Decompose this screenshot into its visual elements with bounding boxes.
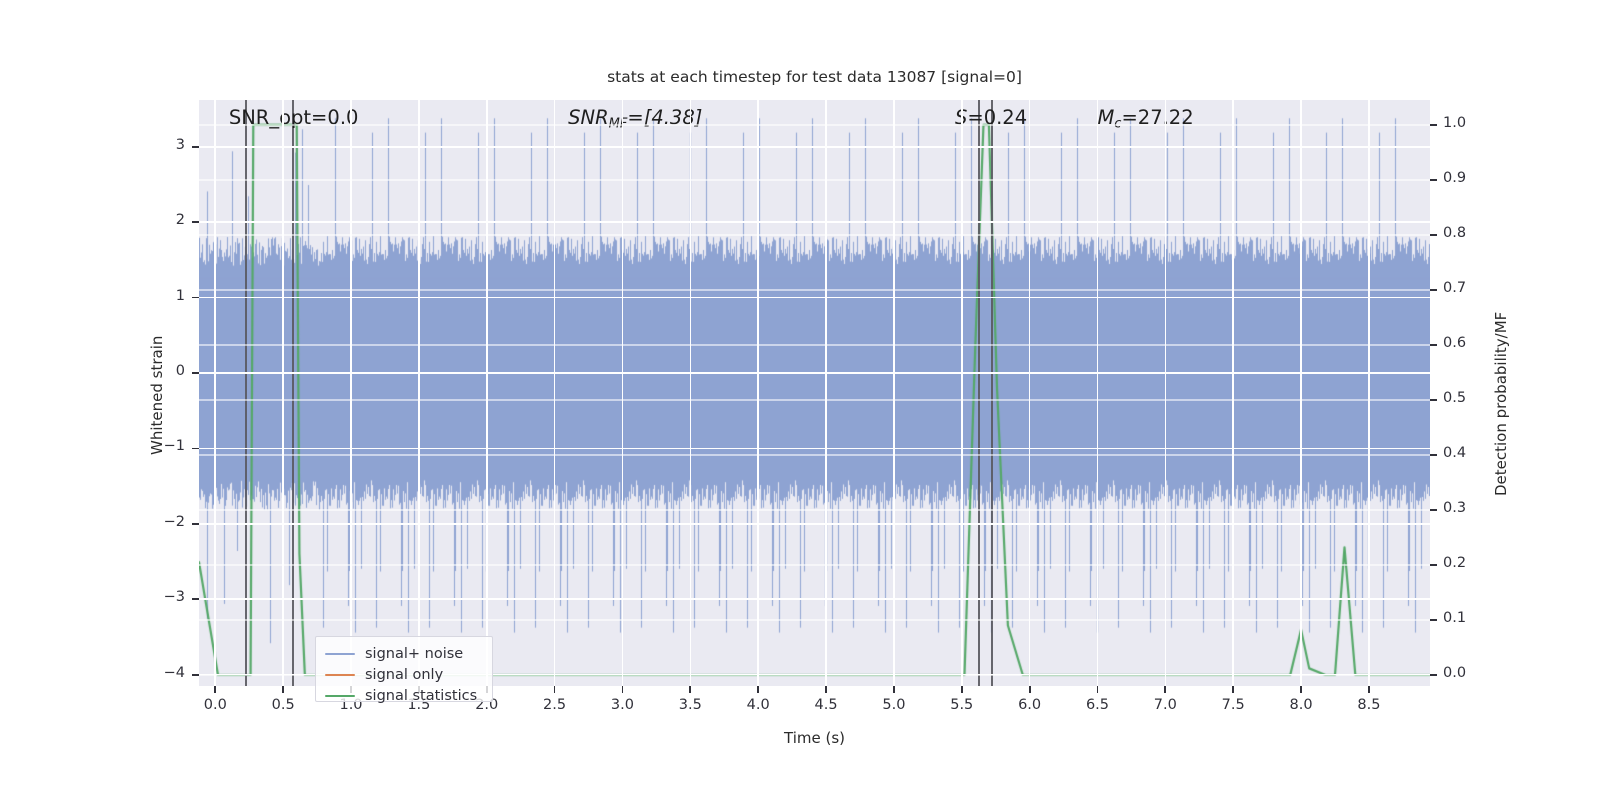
y-tick-mark-left [192, 448, 199, 450]
y-tick-label-right: 0.1 [1443, 610, 1487, 626]
gridline-horizontal-right [199, 399, 1430, 401]
gridline-vertical [1029, 100, 1031, 686]
legend-color-swatch [325, 695, 355, 697]
x-tick-mark [214, 686, 216, 693]
y-tick-label-right: 0.9 [1443, 170, 1487, 186]
y-tick-label-left: −4 [143, 665, 185, 681]
x-tick-mark [825, 686, 827, 693]
x-tick-label: 8.0 [1271, 697, 1331, 713]
y-tick-label-left: 3 [143, 137, 185, 153]
x-tick-label: 0.0 [185, 697, 245, 713]
x-tick-label: 7.0 [1135, 697, 1195, 713]
y-tick-label-right: 1.0 [1443, 115, 1487, 131]
y-tick-label-right: 0.4 [1443, 445, 1487, 461]
y-tick-mark-right [1430, 344, 1437, 346]
gridline-vertical [622, 100, 624, 686]
gridline-vertical [1368, 100, 1370, 686]
gridline-horizontal-right [199, 124, 1430, 126]
x-tick-label: 4.5 [796, 697, 856, 713]
annotation-s-value: =0.24 [967, 106, 1027, 129]
gridline-horizontal-right [199, 234, 1430, 236]
annotation-snr-mf-base: SNR [568, 106, 609, 129]
gridline-horizontal-right [199, 454, 1430, 456]
page-title: stats at each timestep for test data 130… [199, 68, 1430, 86]
y-tick-label-right: 0.8 [1443, 225, 1487, 241]
y-tick-mark-right [1430, 619, 1437, 621]
x-tick-mark [1164, 686, 1166, 693]
legend-item[interactable]: signal statistics [325, 685, 477, 707]
y-axis-label-right: Detection probability/MF [1492, 312, 1510, 496]
gridline-horizontal [199, 146, 1430, 148]
figure-root: stats at each timestep for test data 130… [0, 0, 1600, 800]
y-tick-label-right: 0.5 [1443, 390, 1487, 406]
gridline-vertical [282, 100, 284, 686]
y-tick-label-right: 0.0 [1443, 665, 1487, 681]
gridline-horizontal-right [199, 289, 1430, 291]
legend-item[interactable]: signal+ noise [325, 643, 463, 665]
y-tick-mark-right [1430, 454, 1437, 456]
annotation-snr-mf: SNRMF=[4.38] [568, 106, 702, 131]
gridline-horizontal [199, 297, 1430, 299]
annotation-mc-value: =27.22 [1121, 106, 1193, 129]
matplotlib-figure: stats at each timestep for test data 130… [0, 0, 1600, 800]
gridline-horizontal [199, 372, 1430, 374]
x-tick-label: 3.0 [592, 697, 652, 713]
x-tick-mark [622, 686, 624, 693]
annotation-snr-opt: SNR_opt=0.0 [229, 106, 359, 129]
y-tick-label-right: 0.6 [1443, 335, 1487, 351]
annotation-snr-opt-label: SNR_opt= [229, 106, 328, 129]
gridline-vertical [961, 100, 963, 686]
gridline-vertical [757, 100, 759, 686]
gridline-vertical [486, 100, 488, 686]
x-tick-mark [1368, 686, 1370, 693]
gridline-horizontal-right [199, 509, 1430, 511]
gridline-vertical [418, 100, 420, 686]
y-tick-mark-right [1430, 179, 1437, 181]
y-tick-mark-right [1430, 124, 1437, 126]
gridline-vertical [1232, 100, 1234, 686]
gridline-horizontal [199, 448, 1430, 450]
x-axis-label: Time (s) [199, 729, 1430, 747]
x-tick-mark [757, 686, 759, 693]
y-tick-mark-right [1430, 289, 1437, 291]
x-tick-mark [282, 686, 284, 693]
chart-legend: signal+ noisesignal onlysignal statistic… [315, 636, 493, 702]
y-tick-mark-right [1430, 399, 1437, 401]
y-tick-label-right: 0.2 [1443, 555, 1487, 571]
y-axis-label-left: Whitened strain [148, 336, 166, 455]
gridline-vertical [825, 100, 827, 686]
plot-area: SNR_opt=0.0 SNRMF=[4.38] S=0.24 Mc=27.22 [199, 100, 1430, 686]
x-tick-mark [1029, 686, 1031, 693]
gridline-vertical [893, 100, 895, 686]
y-tick-mark-left [192, 146, 199, 148]
gridline-vertical [1165, 100, 1167, 686]
y-tick-label-left: −2 [143, 514, 185, 530]
y-tick-mark-left [192, 674, 199, 676]
gridline-vertical [1300, 100, 1302, 686]
gridline-vertical [350, 100, 352, 686]
y-tick-mark-right [1430, 564, 1437, 566]
x-tick-mark [1300, 686, 1302, 693]
legend-item-label: signal+ noise [365, 646, 463, 662]
y-tick-label-left: 1 [143, 288, 185, 304]
y-tick-mark-left [192, 372, 199, 374]
x-tick-mark [554, 686, 556, 693]
x-tick-mark [1232, 686, 1234, 693]
y-tick-label-right: 0.3 [1443, 500, 1487, 516]
y-tick-mark-right [1430, 509, 1437, 511]
x-tick-label: 5.5 [932, 697, 992, 713]
gridline-horizontal-right [199, 619, 1430, 621]
gridline-vertical [554, 100, 556, 686]
x-tick-mark [961, 686, 963, 693]
x-tick-label: 4.0 [728, 697, 788, 713]
y-tick-mark-left [192, 297, 199, 299]
y-tick-label-left: −3 [143, 589, 185, 605]
legend-color-swatch [325, 653, 355, 655]
annotation-snr-mf-value: =[4.38] [627, 106, 702, 129]
x-tick-label: 2.5 [525, 697, 585, 713]
y-tick-mark-left [192, 523, 199, 525]
gridline-vertical [690, 100, 692, 686]
gridline-horizontal-right [199, 344, 1430, 346]
x-tick-label: 7.5 [1203, 697, 1263, 713]
gridline-vertical [214, 100, 216, 686]
y-tick-label-right: 0.7 [1443, 280, 1487, 296]
gridline-horizontal [199, 598, 1430, 600]
x-tick-label: 6.0 [1000, 697, 1060, 713]
y-tick-label-left: 2 [143, 212, 185, 228]
y-tick-mark-right [1430, 674, 1437, 676]
x-tick-label: 5.0 [864, 697, 924, 713]
x-tick-label: 3.5 [660, 697, 720, 713]
gridline-horizontal-right [199, 564, 1430, 566]
y-tick-mark-right [1430, 234, 1437, 236]
y-tick-mark-left [192, 221, 199, 223]
legend-item[interactable]: signal only [325, 664, 443, 686]
legend-color-swatch [325, 674, 355, 676]
gridline-horizontal-right [199, 179, 1430, 181]
gridline-vertical [1097, 100, 1099, 686]
gridline-horizontal [199, 523, 1430, 525]
annotation-s-statistic: S=0.24 [955, 106, 1027, 129]
y-tick-mark-left [192, 598, 199, 600]
annotation-snr-opt-value: 0.0 [327, 106, 358, 129]
gridline-horizontal [199, 221, 1430, 223]
x-tick-label: 8.5 [1339, 697, 1399, 713]
x-tick-mark [689, 686, 691, 693]
x-tick-label: 6.5 [1067, 697, 1127, 713]
x-tick-mark [893, 686, 895, 693]
legend-item-label: signal only [365, 667, 443, 683]
annotation-mc-base: M [1097, 106, 1114, 129]
legend-item-label: signal statistics [365, 688, 477, 704]
x-tick-label: 0.5 [253, 697, 313, 713]
x-tick-mark [1097, 686, 1099, 693]
annotation-chirp-mass: Mc=27.22 [1097, 106, 1193, 131]
